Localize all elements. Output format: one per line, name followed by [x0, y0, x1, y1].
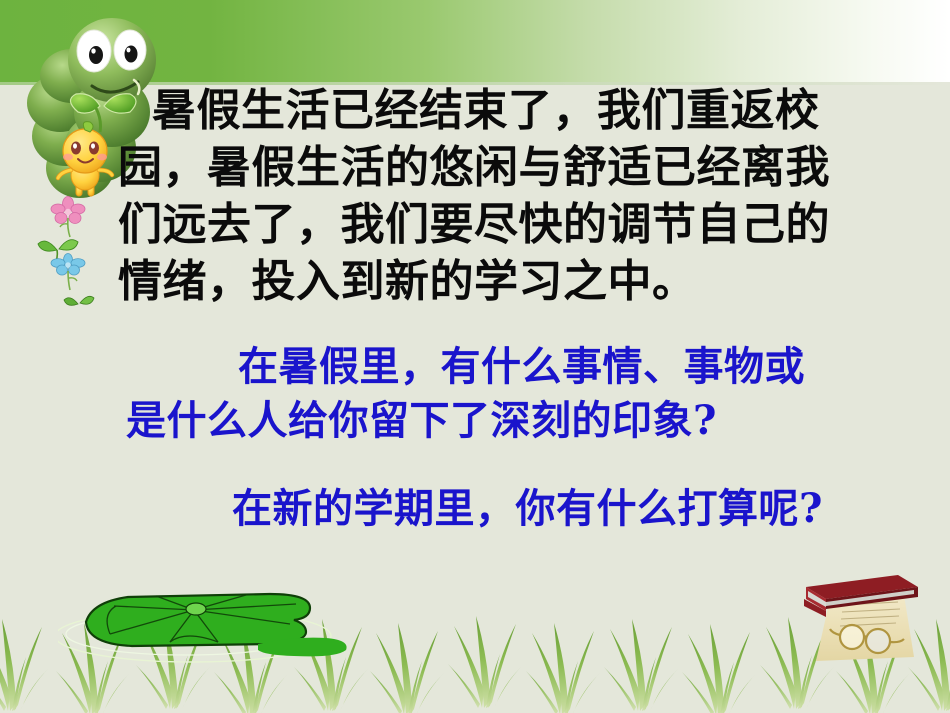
black-line-4: 情绪，投入到新的学习之中。: [118, 253, 697, 310]
blue-line-1: 在暑假里，有什么事情、事物或: [238, 340, 805, 394]
book-with-glasses-icon: [786, 565, 936, 675]
slide-canvas: 暑假生活已经结束了，我们重返校 园，暑假生活的悠闲与舒适已经离我 们远去了，我们…: [0, 0, 950, 713]
black-line-3: 们远去了，我们要尽快的调节自己的: [118, 196, 830, 253]
blue-line-3: 在新的学期里，你有什么打算呢?: [232, 482, 823, 536]
black-line-1: 暑假生活已经结束了，我们重返校: [152, 82, 820, 139]
black-line-2: 园，暑假生活的悠闲与舒适已经离我: [118, 139, 830, 196]
blue-line-2: 是什么人给你留下了深刻的印象?: [126, 394, 717, 448]
lily-pad-icon: [58, 578, 358, 663]
